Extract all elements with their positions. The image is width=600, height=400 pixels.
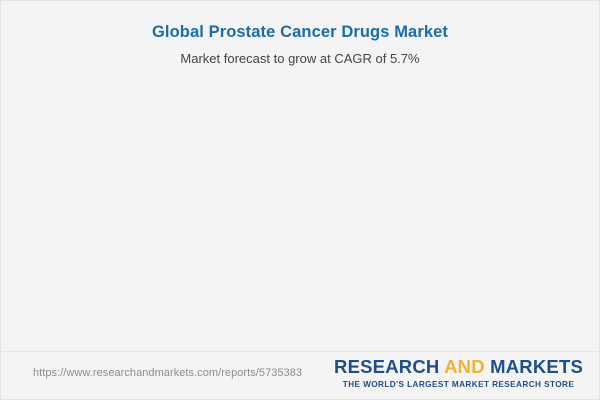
logo-tagline: THE WORLD'S LARGEST MARKET RESEARCH STOR… (334, 381, 583, 389)
report-url[interactable]: https://www.researchandmarkets.com/repor… (33, 367, 302, 379)
research-and-markets-logo[interactable]: RESEARCH AND MARKETS THE WORLD'S LARGEST… (334, 358, 583, 389)
logo-word-markets: MARKETS (490, 356, 583, 377)
logo-word-and: AND (444, 356, 485, 377)
footer: https://www.researchandmarkets.com/repor… (1, 351, 600, 399)
logo-wordmark: RESEARCH AND MARKETS (334, 358, 583, 377)
market-infographic: Global Prostate Cancer Drugs Market Mark… (0, 0, 600, 400)
logo-word-research: RESEARCH (334, 356, 439, 377)
bar-chart-plot: USD 18.81 billion 2023 USD 23.5 billion … (1, 1, 600, 353)
